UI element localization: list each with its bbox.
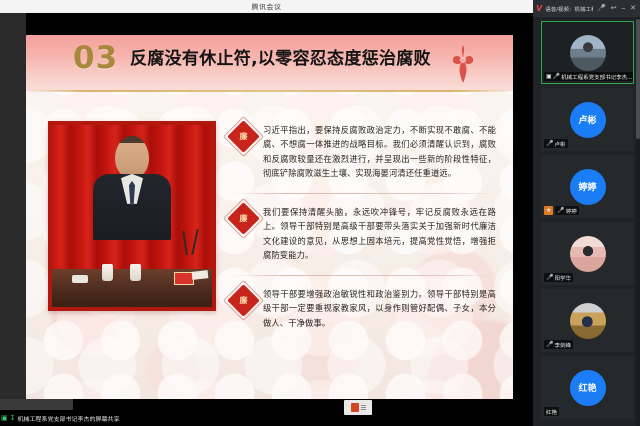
seal-diamond-icon: 廉 [232, 125, 255, 148]
meeting-window: 腾讯会议 V 语音/视频：机械工程系党支部书... 🎤 ↩ ⎯ ✕ 03 反腐没… [0, 0, 640, 426]
slide-title-band: 03 反腐没有休止符,以零容忍态度惩治腐败 [26, 35, 513, 91]
participant-badges: ▣ 🎤 机械工程系党支部书记李杰... [544, 72, 630, 81]
presentation-slide: 03 反腐没有休止符,以零容忍态度惩治腐败 [26, 35, 513, 399]
slide-divider [232, 275, 496, 276]
participant-name: 机械工程系党支部书记李杰... [561, 73, 632, 80]
participant-tile[interactable]: 婷婷 ★ 🎤 婷婷 [541, 155, 634, 218]
participant-tile[interactable]: 红艳 红艳 [541, 356, 634, 419]
microphone-muted-icon: 🎤 [546, 141, 553, 147]
seal-glyph: 廉 [232, 125, 255, 148]
photo-person-torso [93, 174, 171, 240]
photo-microphone-icon [191, 229, 198, 255]
participant-tile[interactable]: 卢彬 🎤 卢彬 [541, 88, 634, 151]
window-title: 腾讯会议 [252, 2, 282, 11]
taskbar: ▣ ↧ 机械工程系党支部书记李杰的屏幕共享 [0, 399, 533, 426]
taskbar-left-block [0, 399, 73, 410]
screen-share-label: 机械工程系党支部书记李杰的屏幕共享 [18, 414, 120, 422]
participant-name: 卢彬 [554, 140, 565, 147]
participant-name: 阳学华 [554, 274, 571, 281]
participant-badges: 🎤 阳学华 [544, 273, 573, 282]
photo-plate [72, 275, 88, 283]
slide-paragraph: 廉 习近平指出，要保持反腐败政治定力，不断实现不敢腐、不能腐、不想腐一体推进的战… [232, 123, 496, 180]
arrow-icon[interactable]: ↩ [610, 5, 618, 12]
photo-person-head [115, 136, 149, 178]
slide-paragraph-text: 习近平指出，要保持反腐败政治定力，不断实现不敢腐、不能腐、不想腐一体推进的战略目… [263, 123, 496, 180]
speaker-at-podium-photo [52, 125, 212, 307]
video-panel-header[interactable]: V 语音/视频：机械工程系党支部书... 🎤 ↩ ⎯ ✕ [533, 0, 640, 17]
seal-glyph: 廉 [232, 207, 255, 230]
seal-diamond-icon: 廉 [232, 207, 255, 230]
seal-diamond-icon: 廉 [232, 289, 255, 312]
participant-badges: ★ 🎤 婷婷 [544, 206, 579, 215]
screen-share-icon: ▣ [546, 74, 552, 80]
microphone-muted-icon: 🎤 [546, 275, 553, 281]
participant-name-pill: 红艳 [544, 407, 559, 416]
photo-paper [192, 270, 209, 280]
slide-divider [232, 193, 496, 194]
slide-paragraph-text: 我们要保持清醒头脑，永远吹冲锋号，牢记反腐败永远在路上。领导干部特别是高级干部要… [263, 205, 496, 262]
microphone-icon: 🎤 [553, 74, 560, 80]
photo-microphone-icon [182, 231, 187, 255]
avatar [570, 236, 606, 272]
participant-rail[interactable]: ▣ 🎤 机械工程系党支部书记李杰... 卢彬 🎤 卢彬 婷婷 ★ [533, 17, 640, 426]
participant-badges: 🎤 卢彬 [544, 139, 568, 148]
scrollbar-thumb[interactable] [636, 19, 640, 139]
participant-name-pill: 🎤 婷婷 [555, 206, 579, 215]
stage-left-gutter [0, 13, 26, 399]
avatar [570, 35, 606, 71]
participant-name-pill: 🎤 李剑峰 [544, 340, 573, 349]
participant-tile[interactable]: 🎤 阳学华 [541, 222, 634, 285]
slide-section-number: 03 [73, 43, 118, 74]
participant-name: 红艳 [546, 408, 557, 415]
seal-glyph: 廉 [232, 289, 255, 312]
microphone-icon: ↧ [10, 415, 16, 422]
photo-cup [130, 264, 141, 281]
microphone-muted-icon: 🎤 [546, 342, 553, 348]
close-button[interactable]: ✕ [629, 5, 637, 12]
slide-paragraph: 廉 领导干部要增强政治敏锐性和政治鉴别力。领导干部特别是高级干部一定要重视家教家… [232, 287, 496, 330]
slide-photo-frame [48, 121, 216, 311]
host-badge: ★ [544, 206, 553, 215]
video-panel-title: 语音/视频：机械工程系党支部书... [545, 5, 593, 12]
slide-title: 反腐没有休止符,以零容忍态度惩治腐败 [130, 49, 431, 69]
photo-cup [102, 264, 113, 281]
host-icon: ★ [546, 208, 551, 214]
avatar: 婷婷 [570, 169, 606, 205]
participant-rail-scrollbar[interactable] [636, 17, 640, 426]
screen-share-status: ▣ ↧ 机械工程系党支部书记李杰的屏幕共享 [1, 413, 120, 423]
screen-share-stage: 03 反腐没有休止符,以零容忍态度惩治腐败 [0, 13, 533, 426]
avatar: 卢彬 [570, 102, 606, 138]
photo-person [93, 136, 171, 240]
participant-badges: 红艳 [544, 407, 559, 416]
avatar: 红艳 [570, 370, 606, 406]
participant-tile[interactable]: ▣ 🎤 机械工程系党支部书记李杰... [541, 21, 634, 84]
window-titlebar: 腾讯会议 [0, 0, 533, 13]
slide-paragraph-text: 领导干部要增强政治敏锐性和政治鉴别力。领导干部特别是高级干部一定要重视家教家风，… [263, 287, 496, 330]
microphone-muted-icon: 🎤 [557, 208, 564, 214]
microphone-icon[interactable]: 🎤 [596, 5, 607, 12]
avatar [570, 303, 606, 339]
participant-name: 婷婷 [566, 207, 577, 214]
participant-tile[interactable]: 🎤 李剑峰 [541, 289, 634, 352]
slide-text-column: 廉 习近平指出，要保持反腐败政治定力，不断实现不敢腐、不能腐、不想腐一体推进的战… [232, 123, 496, 343]
ribbon-flourish-icon [446, 43, 480, 85]
powerpoint-icon[interactable] [344, 400, 372, 415]
minimize-button[interactable]: ⎯ [621, 5, 627, 12]
participant-name: 李剑峰 [554, 341, 571, 348]
tencent-meeting-logo-icon: V [536, 5, 542, 13]
participant-name-pill: 🎤 卢彬 [544, 139, 568, 148]
participant-name-pill: ▣ 🎤 机械工程系党支部书记李杰... [544, 72, 634, 81]
participant-badges: 🎤 李剑峰 [544, 340, 573, 349]
screen-share-icon: ▣ [1, 415, 8, 422]
slide-paragraph: 廉 我们要保持清醒头脑，永远吹冲锋号，牢记反腐败永远在路上。领导干部特别是高级干… [232, 205, 496, 262]
participant-name-pill: 🎤 阳学华 [544, 273, 573, 282]
